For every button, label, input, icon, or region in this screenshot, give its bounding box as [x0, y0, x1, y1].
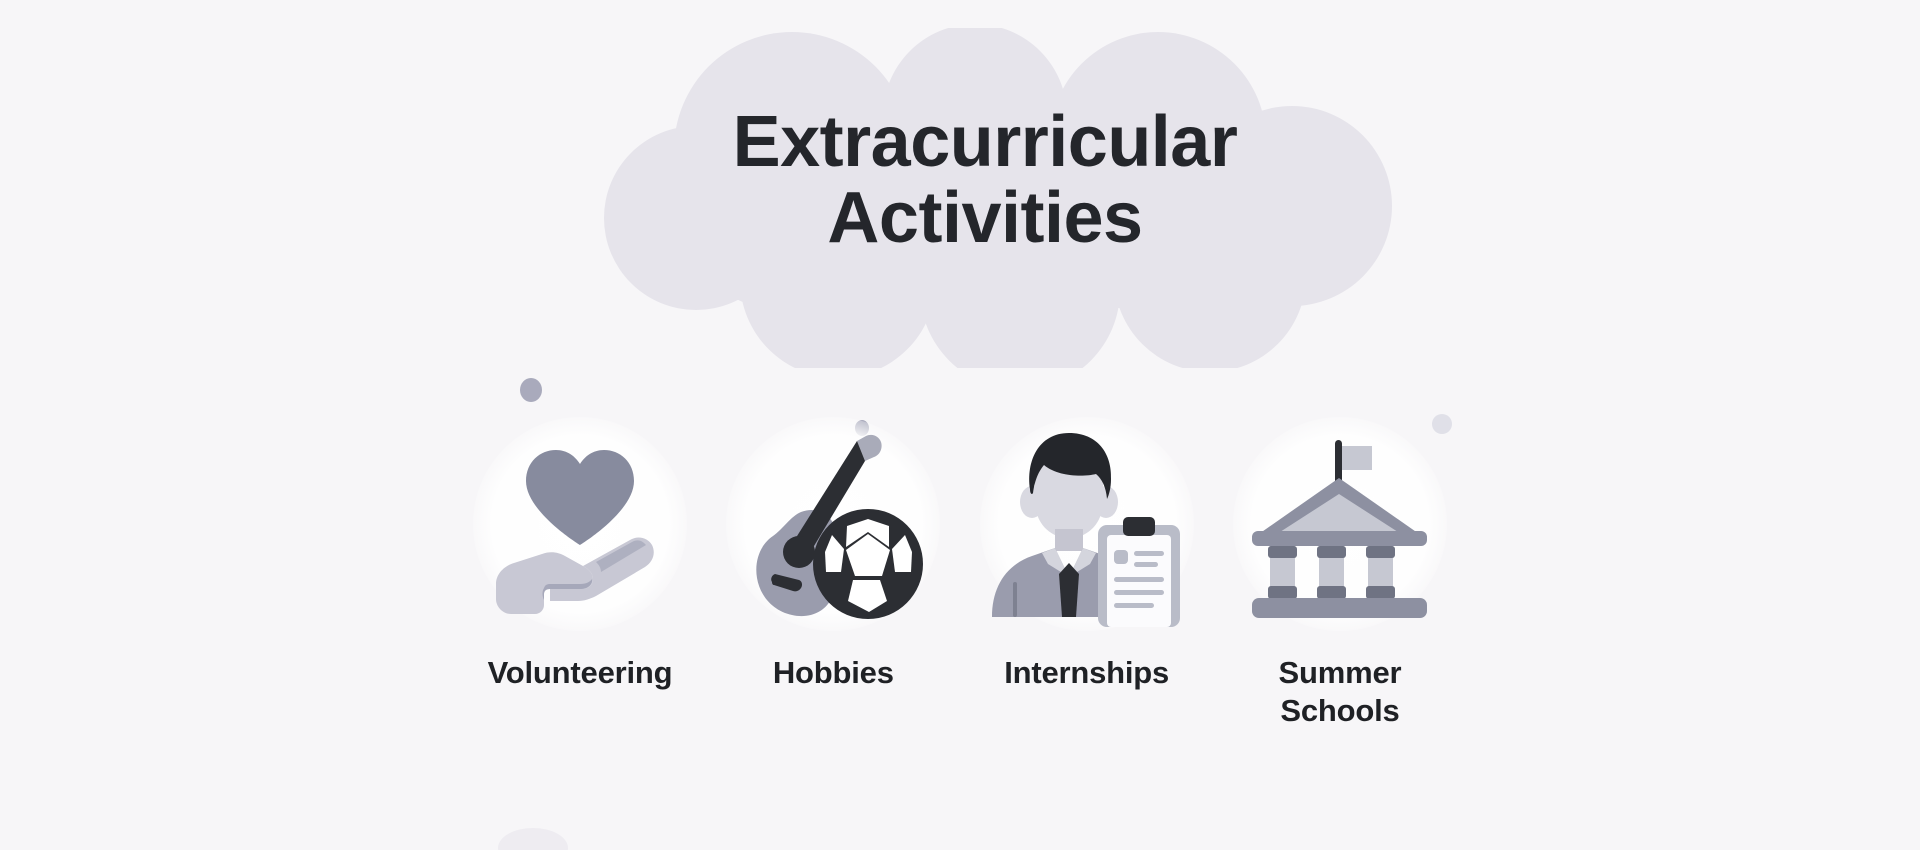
page-title-line-1: Extracurricular — [520, 104, 1450, 180]
icon-halo-hobbies — [717, 408, 949, 640]
soccer-ball-icon — [813, 509, 923, 619]
activity-card-summer-schools[interactable]: Summer Schools — [1215, 408, 1465, 730]
activity-label-summer-schools: Summer Schools — [1245, 654, 1435, 730]
heart-in-hand-icon — [480, 424, 680, 624]
activity-label-volunteering: Volunteering — [488, 654, 673, 692]
university-building-icon — [1240, 424, 1440, 624]
activity-card-hobbies[interactable]: Hobbies — [708, 408, 958, 692]
bottom-decorative-blob — [498, 828, 568, 850]
title-cloud: Extracurricular Activities — [520, 28, 1450, 368]
activity-label-hobbies: Hobbies — [773, 654, 894, 692]
activity-card-internships[interactable]: Internships — [962, 408, 1212, 692]
person-with-clipboard-icon — [980, 417, 1194, 631]
guitar-and-soccer-ball-icon — [729, 420, 937, 628]
icon-halo-volunteering — [464, 408, 696, 640]
activity-card-volunteering[interactable]: Volunteering — [455, 408, 705, 692]
poster-canvas: Extracurricular Activities Volunteering — [0, 0, 1920, 850]
icon-halo-internships — [971, 408, 1203, 640]
page-title: Extracurricular Activities — [520, 104, 1450, 257]
dot-left-accent — [520, 378, 542, 402]
page-title-line-2: Activities — [520, 180, 1450, 256]
activity-label-internships: Internships — [1004, 654, 1169, 692]
clipboard-icon — [1098, 517, 1180, 627]
activities-row: Volunteering — [455, 408, 1465, 808]
icon-halo-summer-schools — [1224, 408, 1456, 640]
